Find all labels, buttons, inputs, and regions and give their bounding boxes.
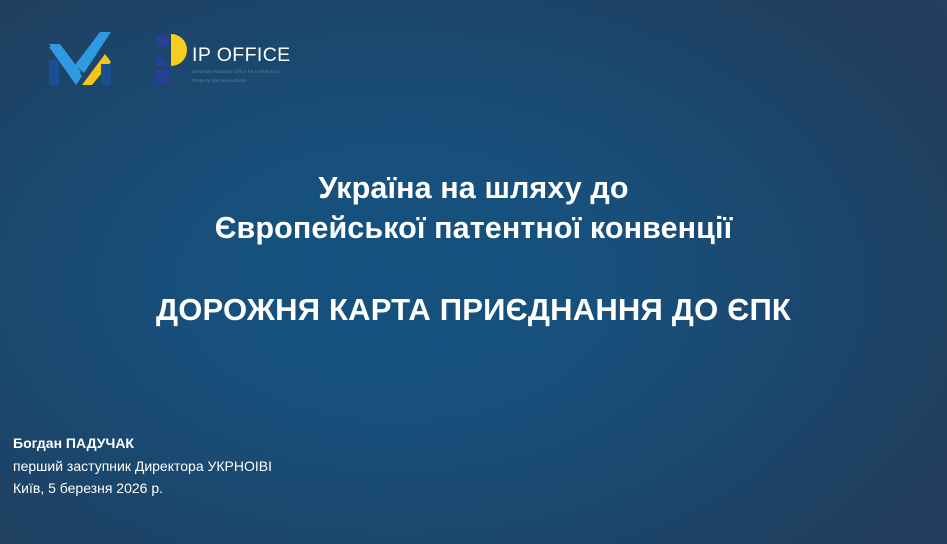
ministry-m-logo bbox=[48, 31, 112, 87]
ip-office-subtitle-line2: Property and Innovations bbox=[192, 78, 291, 85]
presentation-title-slide: IP OFFICE Ukrainian National Office for … bbox=[0, 0, 947, 544]
ip-office-logo: IP OFFICE Ukrainian National Office for … bbox=[155, 31, 291, 86]
ip-office-wordmark: IP OFFICE bbox=[192, 46, 291, 66]
slide-subtitle: ДОРОЖНЯ КАРТА ПРИЄДНАННЯ ДО ЄПК bbox=[0, 291, 947, 330]
ip-office-subtitle-line1: Ukrainian National Office for Intellectu… bbox=[192, 69, 291, 76]
logo-bar: IP OFFICE Ukrainian National Office for … bbox=[48, 31, 291, 87]
speaker-role: перший заступник Директора УКРНОІВІ bbox=[13, 455, 272, 478]
ip-office-mark-icon bbox=[155, 33, 187, 85]
slide-subtitle-line-1: ДОРОЖНЯ КАРТА ПРИЄДНАННЯ ДО ЄПК bbox=[20, 291, 927, 330]
place-and-date: Київ, 5 березня 2026 р. bbox=[13, 477, 272, 500]
slide-title-line-2: Європейської патентної конвенції bbox=[40, 208, 907, 248]
speaker-info: Богдан ПАДУЧАК перший заступник Директор… bbox=[13, 432, 272, 500]
slide-title-line-1: Україна на шляху до bbox=[40, 168, 907, 208]
ip-office-text-block: IP OFFICE Ukrainian National Office for … bbox=[192, 33, 291, 86]
slide-title: Україна на шляху до Європейської патентн… bbox=[0, 168, 947, 249]
speaker-name: Богдан ПАДУЧАК bbox=[13, 432, 272, 455]
